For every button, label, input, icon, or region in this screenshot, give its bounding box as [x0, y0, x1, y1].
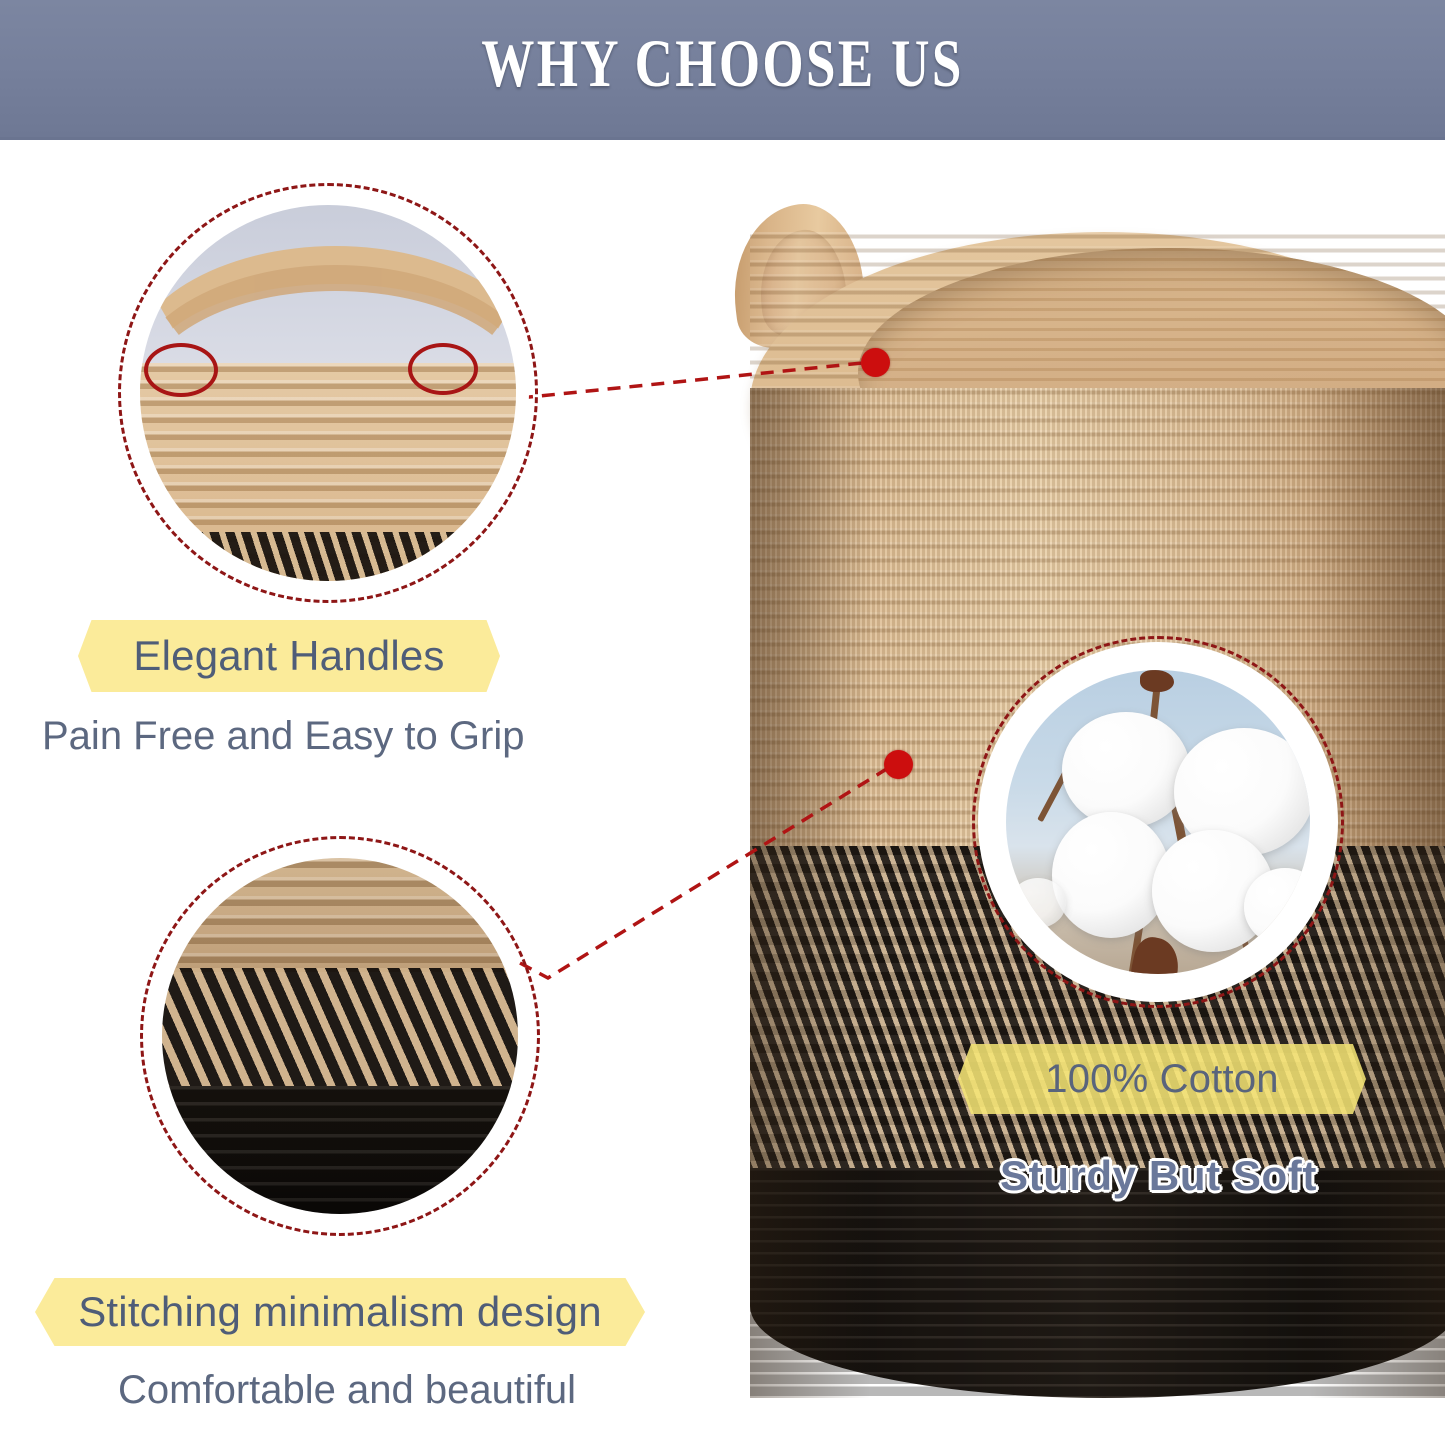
cotton-boll-lower-left	[1052, 812, 1170, 938]
handle-attachment-highlight-left	[144, 343, 218, 397]
basket-black-base	[750, 1168, 1445, 1398]
label-banner-cotton: 100% Cotton	[958, 1044, 1366, 1114]
closeup-tan-texture	[162, 858, 518, 972]
label-text-stitching: Stitching minimalism design	[78, 1288, 602, 1336]
cotton-boll-background-left	[1010, 878, 1066, 928]
base-right-shading	[1308, 1168, 1445, 1398]
cotton-husk-top	[1140, 670, 1174, 692]
label-banner-stitching: Stitching minimalism design	[35, 1278, 645, 1346]
closeup-diagonal-stitch-zone	[162, 968, 518, 1089]
header-banner: WHY CHOOSE US	[0, 0, 1445, 140]
label-subtitle-stitching: Comfortable and beautiful	[118, 1368, 576, 1413]
infographic-canvas: WHY CHOOSE US	[0, 0, 1445, 1445]
marker-dot-stitching	[884, 750, 913, 779]
handle-attachment-highlight-right	[408, 343, 478, 395]
black-rope-texture	[750, 1168, 1445, 1398]
label-subtitle-handles: Pain Free and Easy to Grip	[42, 714, 524, 759]
label-text-cotton: 100% Cotton	[1045, 1057, 1278, 1102]
closeup-black-texture	[162, 1086, 518, 1214]
cotton-boll-photo	[1006, 670, 1310, 974]
label-banner-handles: Elegant Handles	[78, 620, 500, 692]
tan-left-shading	[750, 388, 870, 858]
callout-handle-closeup	[118, 183, 538, 603]
base-left-shading	[750, 1168, 870, 1398]
page-title: WHY CHOOSE US	[159, 24, 1286, 103]
cotton-boll-upper-left	[1062, 712, 1190, 828]
closeup-stitch-edge	[140, 532, 516, 581]
closeup-black-rope-zone	[162, 1086, 518, 1214]
label-subtitle-cotton: Sturdy But Soft	[1000, 1152, 1317, 1200]
closeup-tan-rope-zone	[162, 858, 518, 972]
handle-closeup-photo	[140, 205, 516, 581]
callout-cotton-photo	[972, 636, 1344, 1008]
marker-dot-handle	[861, 348, 890, 377]
label-text-handles: Elegant Handles	[133, 632, 444, 680]
callout-stitching-closeup	[140, 836, 540, 1236]
stitching-closeup-photo	[162, 858, 518, 1214]
